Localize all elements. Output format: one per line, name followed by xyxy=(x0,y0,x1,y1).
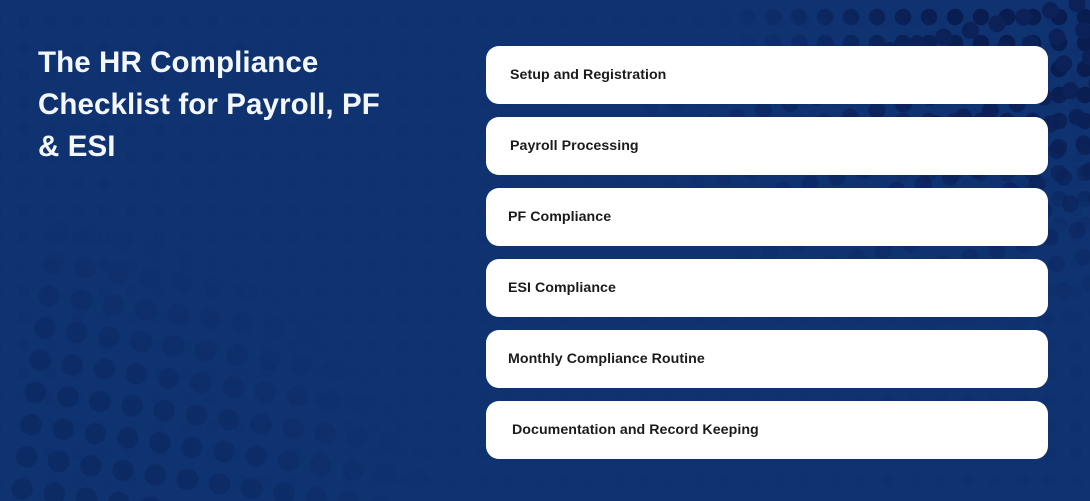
page-title: The HR Compliance Checklist for Payroll,… xyxy=(38,42,438,168)
checklist-item-documentation-and-record-keeping[interactable]: Documentation and Record Keeping xyxy=(486,401,1048,459)
checklist-item-label: Setup and Registration xyxy=(486,67,666,83)
checklist-item-monthly-compliance-routine[interactable]: Monthly Compliance Routine xyxy=(486,330,1048,388)
checklist-item-pf-compliance[interactable]: PF Compliance xyxy=(486,188,1048,246)
checklist-item-setup-and-registration[interactable]: Setup and Registration xyxy=(486,46,1048,104)
checklist: Setup and Registration Payroll Processin… xyxy=(486,46,1048,459)
infographic-canvas: The HR Compliance Checklist for Payroll,… xyxy=(0,0,1090,501)
checklist-item-payroll-processing[interactable]: Payroll Processing xyxy=(486,117,1048,175)
title-block: The HR Compliance Checklist for Payroll,… xyxy=(38,42,438,168)
checklist-item-esi-compliance[interactable]: ESI Compliance xyxy=(486,259,1048,317)
checklist-item-label: ESI Compliance xyxy=(486,280,616,296)
checklist-item-label: Payroll Processing xyxy=(486,138,639,154)
checklist-item-label: PF Compliance xyxy=(486,209,611,225)
checklist-item-label: Documentation and Record Keeping xyxy=(486,422,759,438)
checklist-item-label: Monthly Compliance Routine xyxy=(486,351,705,367)
